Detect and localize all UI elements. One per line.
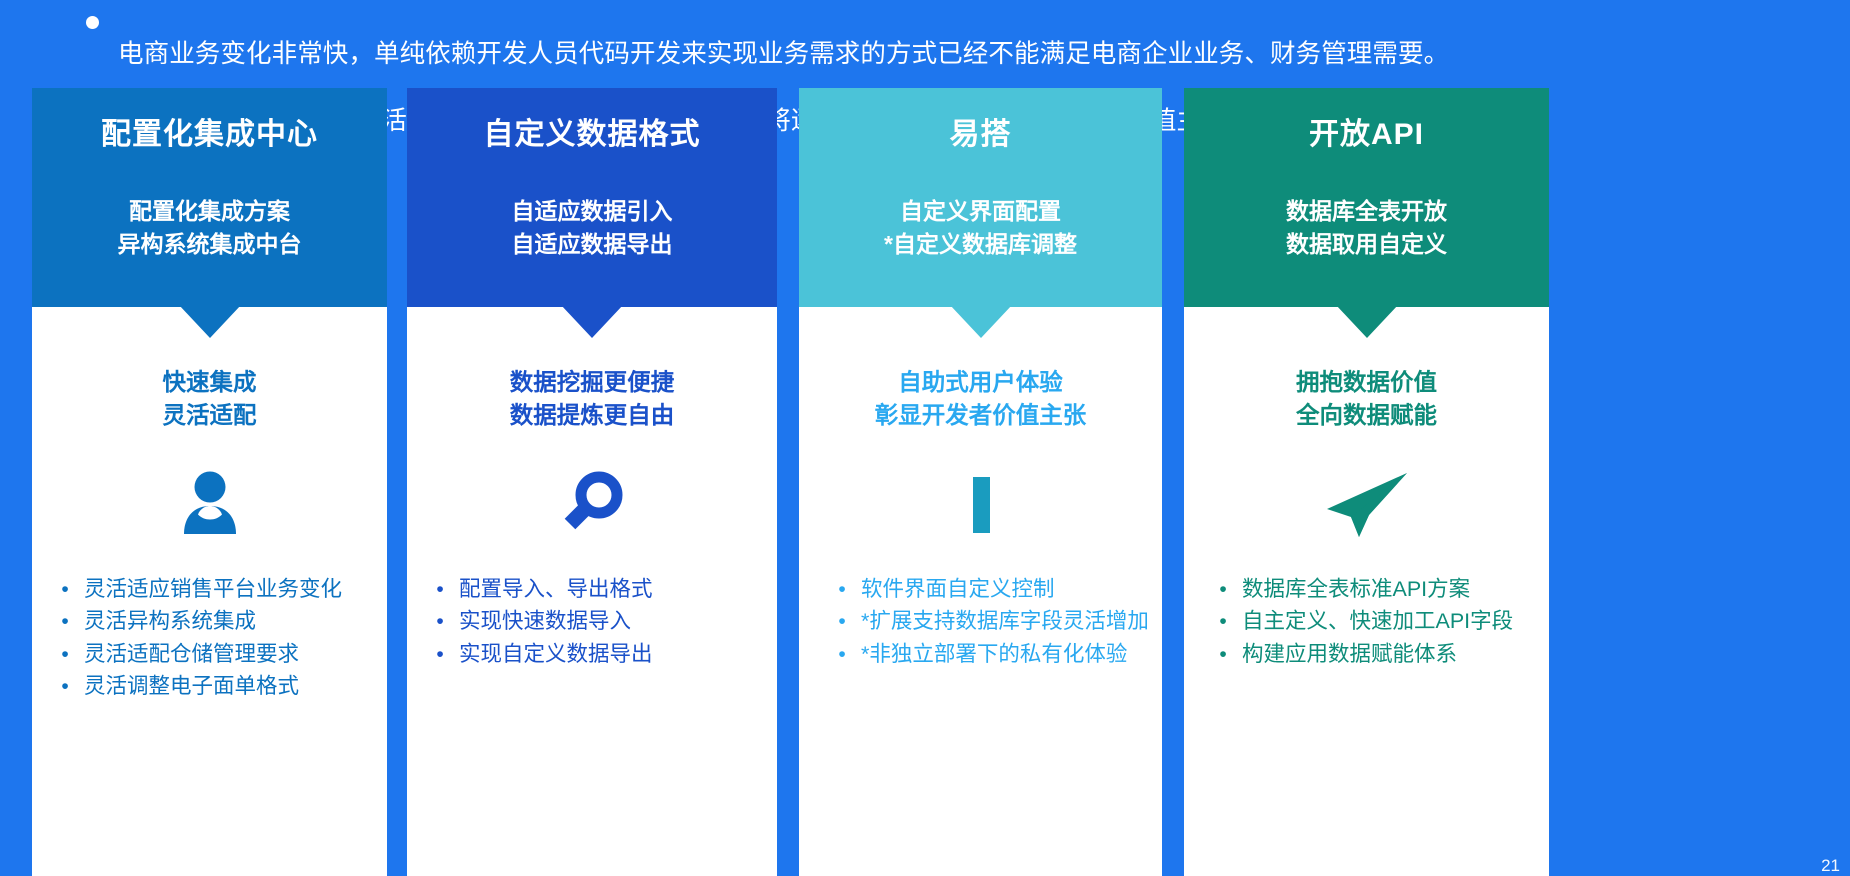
list-item-label: 自主定义、快速加工API字段 — [1242, 605, 1513, 637]
bullet-dot-icon: • — [429, 574, 451, 606]
list-item: •软件界面自定义控制 — [831, 573, 1055, 606]
bullet-dot-icon: • — [54, 671, 76, 703]
list-item-label: 配置导入、导出格式 — [459, 573, 653, 605]
bullet-dot-icon: • — [1212, 639, 1234, 671]
card-subtitle: 自适应数据引入 自适应数据导出 — [512, 195, 673, 260]
card-easy-build[interactable]: 易搭 自定义界面配置 *自定义数据库调整 自助式用户体验 彰显开发者价值主张 •… — [799, 88, 1162, 876]
card-beak-icon — [950, 305, 1012, 338]
card-header: 自定义数据格式 自适应数据引入 自适应数据导出 — [407, 88, 777, 307]
bullet-dot-icon: • — [54, 639, 76, 671]
card-title: 自定义数据格式 — [484, 118, 701, 151]
bullet-icon — [86, 16, 99, 29]
list-item: •*扩展支持数据库字段灵活增加 — [831, 605, 1149, 638]
card-beak-icon — [1336, 305, 1398, 338]
paper-plane-icon — [1321, 459, 1413, 551]
card-beak-icon — [561, 305, 623, 338]
person-icon — [171, 459, 249, 551]
list-item: •实现快速数据导入 — [429, 605, 631, 638]
card-subtitle: 配置化集成方案 异构系统集成中台 — [118, 195, 302, 260]
card-subtitle: 数据库全表开放 数据取用自定义 — [1286, 195, 1447, 260]
card-open-api[interactable]: 开放API 数据库全表开放 数据取用自定义 拥抱数据价值 全向数据赋能 •数据库… — [1184, 88, 1549, 876]
card-body: 数据挖掘更便捷 数据提炼更自由 •配置导入、导出格式 •实现快速数据导入 •实现… — [407, 307, 777, 876]
card-custom-data-format[interactable]: 自定义数据格式 自适应数据引入 自适应数据导出 数据挖掘更便捷 数据提炼更自由 … — [407, 88, 777, 876]
card-row: 配置化集成中心 配置化集成方案 异构系统集成中台 快速集成 灵活适配 •灵活适应… — [0, 88, 1850, 876]
list-item: •灵活调整电子面单格式 — [54, 670, 299, 703]
card-configurable-integration-center[interactable]: 配置化集成中心 配置化集成方案 异构系统集成中台 快速集成 灵活适配 •灵活适应… — [32, 88, 387, 876]
bullet-dot-icon: • — [429, 606, 451, 638]
card-bullet-list: •配置导入、导出格式 •实现快速数据导入 •实现自定义数据导出 — [407, 573, 777, 671]
list-item: •实现自定义数据导出 — [429, 638, 653, 671]
card-beak-icon — [179, 305, 241, 338]
list-item-label: 构建应用数据赋能体系 — [1242, 638, 1457, 670]
list-item-label: 灵活适应销售平台业务变化 — [84, 573, 342, 605]
bullet-dot-icon: • — [54, 606, 76, 638]
header-line-1: 电商业务变化非常快，单纯依赖开发人员代码开发来实现业务需求的方式已经不能满足电商… — [118, 40, 1449, 68]
list-item: •灵活异构系统集成 — [54, 605, 256, 638]
card-header: 开放API 数据库全表开放 数据取用自定义 — [1184, 88, 1549, 307]
card-body: 快速集成 灵活适配 •灵活适应销售平台业务变化 •灵活异构系统集成 •灵活适配仓… — [32, 307, 387, 876]
vertical-bar-icon — [946, 459, 1016, 551]
header-paragraph: 电商业务变化非常快，单纯依赖开发人员代码开发来实现业务需求的方式已经不能满足电商… — [0, 0, 1850, 88]
bullet-dot-icon: • — [1212, 574, 1234, 606]
magnifier-icon — [555, 459, 629, 551]
page-number: 21 — [1821, 856, 1840, 876]
list-item: •*非独立部署下的私有化体验 — [831, 638, 1127, 671]
list-item-label: 数据库全表标准API方案 — [1242, 573, 1470, 605]
card-title: 开放API — [1309, 118, 1424, 151]
list-item-label: *非独立部署下的私有化体验 — [861, 638, 1127, 670]
list-item: •配置导入、导出格式 — [429, 573, 653, 606]
bullet-dot-icon: • — [54, 574, 76, 606]
list-item: •灵活适配仓储管理要求 — [54, 638, 299, 671]
card-header: 易搭 自定义界面配置 *自定义数据库调整 — [799, 88, 1162, 307]
list-item: •自主定义、快速加工API字段 — [1212, 605, 1513, 638]
card-title: 配置化集成中心 — [101, 118, 318, 151]
list-item: •灵活适应销售平台业务变化 — [54, 573, 342, 606]
card-bullet-list: •软件界面自定义控制 •*扩展支持数据库字段灵活增加 •*非独立部署下的私有化体… — [799, 573, 1162, 671]
card-header: 配置化集成中心 配置化集成方案 异构系统集成中台 — [32, 88, 387, 307]
card-bullet-list: •数据库全表标准API方案 •自主定义、快速加工API字段 •构建应用数据赋能体… — [1184, 573, 1549, 671]
list-item-label: 灵活异构系统集成 — [84, 605, 256, 637]
card-body: 拥抱数据价值 全向数据赋能 •数据库全表标准API方案 •自主定义、快速加工AP… — [1184, 307, 1549, 876]
bullet-dot-icon: • — [831, 606, 853, 638]
list-item-label: *扩展支持数据库字段灵活增加 — [861, 605, 1149, 637]
card-title: 易搭 — [950, 118, 1012, 151]
list-item-label: 实现自定义数据导出 — [459, 638, 653, 670]
bullet-dot-icon: • — [1212, 606, 1234, 638]
card-subtitle: 自定义界面配置 *自定义数据库调整 — [884, 195, 1077, 260]
bullet-dot-icon: • — [831, 639, 853, 671]
card-bullet-list: •灵活适应销售平台业务变化 •灵活异构系统集成 •灵活适配仓储管理要求 •灵活调… — [32, 573, 387, 703]
list-item-label: 灵活适配仓储管理要求 — [84, 638, 299, 670]
list-item-label: 实现快速数据导入 — [459, 605, 631, 637]
list-item-label: 软件界面自定义控制 — [861, 573, 1055, 605]
bullet-dot-icon: • — [831, 574, 853, 606]
list-item: •数据库全表标准API方案 — [1212, 573, 1470, 606]
list-item-label: 灵活调整电子面单格式 — [84, 670, 299, 702]
bullet-dot-icon: • — [429, 639, 451, 671]
card-body-heading: 快速集成 灵活适配 — [163, 366, 257, 433]
card-body-heading: 拥抱数据价值 全向数据赋能 — [1296, 366, 1437, 433]
card-body: 自助式用户体验 彰显开发者价值主张 •软件界面自定义控制 •*扩展支持数据库字段… — [799, 307, 1162, 876]
card-body-heading: 数据挖掘更便捷 数据提炼更自由 — [510, 366, 675, 433]
list-item: •构建应用数据赋能体系 — [1212, 638, 1457, 671]
card-body-heading: 自助式用户体验 彰显开发者价值主张 — [875, 366, 1087, 433]
